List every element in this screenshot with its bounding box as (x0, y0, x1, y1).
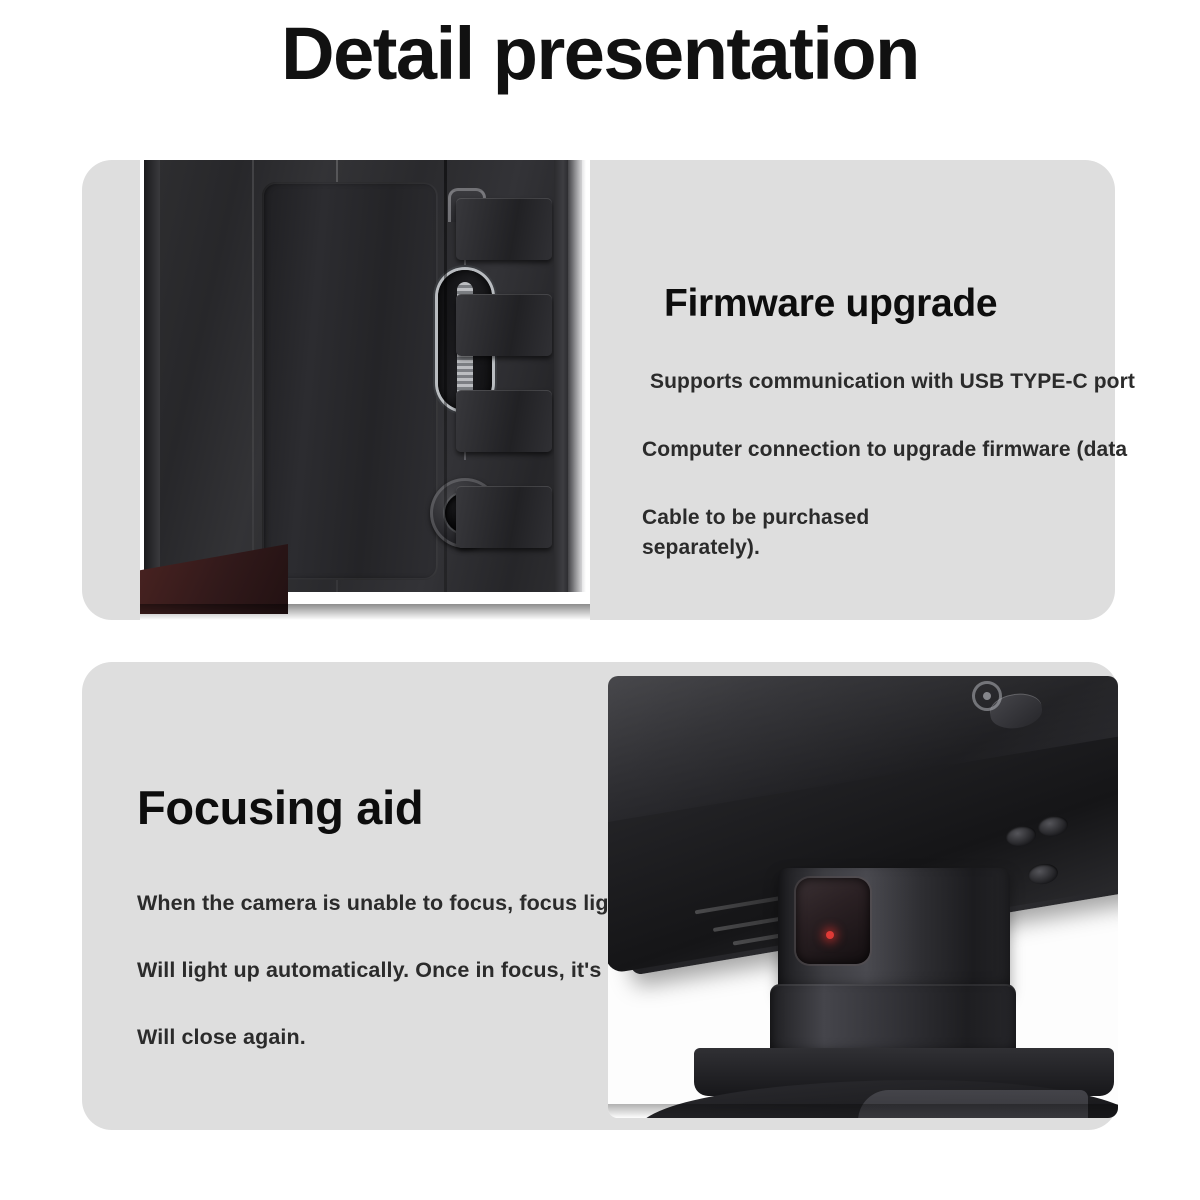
page-title: Detail presentation (0, 14, 1200, 94)
grip-block (456, 486, 552, 548)
firmware-body-line-4: separately). (642, 536, 1112, 560)
focus-light-barrel (778, 868, 1010, 996)
focus-light-window (796, 878, 870, 964)
grip-block (456, 198, 552, 260)
focus-text-block: Focusing aid When the camera is unable t… (137, 780, 637, 1050)
photo-ground-shadow (140, 604, 590, 620)
firmware-body-line-1: Supports communication with USB TYPE-C p… (650, 370, 1112, 394)
camera-usb-c-port-photo (140, 160, 590, 620)
barrel-lower-ring (770, 984, 1016, 1058)
feature-card-firmware-upgrade: Firmware upgrade Supports communication … (82, 160, 1115, 620)
feature-card-focusing-aid: Focusing aid When the camera is unable t… (82, 662, 1118, 1130)
focus-body-line-3: Will close again. (137, 1025, 637, 1050)
firmware-body-line-2: Computer connection to upgrade firmware … (642, 438, 1112, 462)
firmware-heading: Firmware upgrade (664, 282, 1112, 326)
grip-block-column (450, 160, 568, 592)
photo-ground-shadow (608, 1104, 1118, 1118)
grip-block (456, 294, 552, 356)
focus-body-line-1: When the camera is unable to focus, focu… (137, 891, 637, 916)
firmware-text-block: Firmware upgrade Supports communication … (642, 282, 1112, 560)
body-seam-line (252, 160, 254, 592)
port-plate (262, 182, 438, 580)
grip-block (456, 390, 552, 452)
focus-body: When the camera is unable to focus, focu… (137, 891, 637, 1050)
camera-left-edge (144, 160, 160, 592)
body-seam-line (444, 160, 447, 592)
focus-heading: Focusing aid (137, 780, 637, 835)
focus-light-led-icon (826, 931, 834, 939)
firmware-body-line-3: Cable to be purchased (642, 506, 1112, 530)
camera-body-shape (144, 160, 582, 592)
focus-body-line-2: Will light up automatically. Once in foc… (137, 958, 637, 983)
firmware-body: Supports communication with USB TYPE-C p… (642, 370, 1112, 560)
body-highlight-edge (568, 160, 586, 592)
camera-focus-light-photo (608, 676, 1118, 1118)
